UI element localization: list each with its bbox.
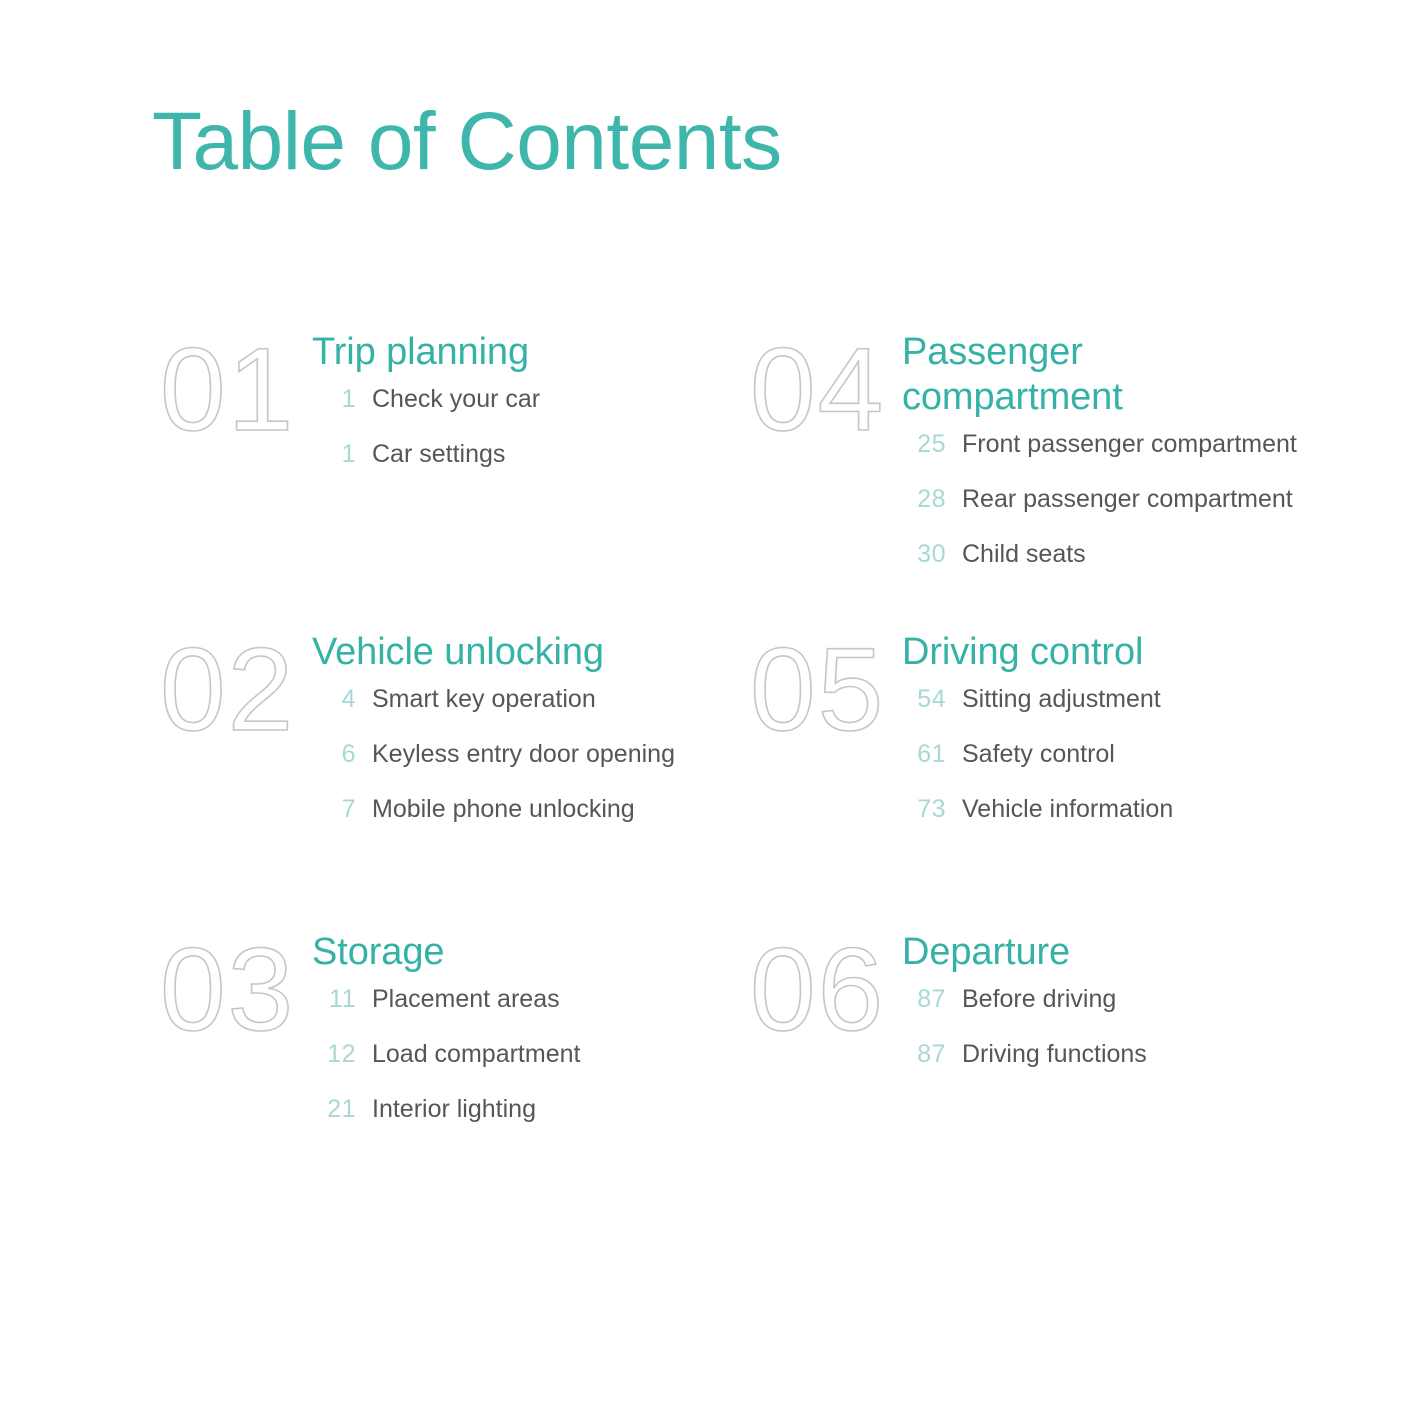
section-number-outline: 03 — [160, 930, 310, 1050]
section-entries: 25 Front passenger compartment 28 Rear p… — [902, 430, 1310, 595]
section-entries: 1 Check your car 1 Car settings — [312, 385, 720, 495]
section-body: Departure 87 Before driving 87 Driving f… — [902, 930, 1310, 1095]
entry-page-number: 30 — [902, 540, 946, 569]
entry-page-number: 87 — [902, 1040, 946, 1069]
section-number-outline: 06 — [750, 930, 900, 1050]
entry-page-number: 73 — [902, 795, 946, 824]
entry-page-number: 6 — [312, 740, 356, 769]
toc-entry[interactable]: 28 Rear passenger compartment — [902, 485, 1310, 540]
section-entries: 4 Smart key operation 6 Keyless entry do… — [312, 685, 720, 850]
section-number-text: 05 — [750, 624, 885, 756]
entry-page-number: 4 — [312, 685, 356, 714]
toc-entry[interactable]: 87 Driving functions — [902, 1040, 1310, 1095]
section-number-outline: 04 — [750, 330, 900, 450]
section-entries: 54 Sitting adjustment 61 Safety control … — [902, 685, 1310, 850]
section-body: Vehicle unlocking 4 Smart key operation … — [312, 630, 720, 850]
section-heading[interactable]: Storage — [312, 930, 720, 975]
section-number-text: 01 — [160, 324, 295, 456]
entry-label: Check your car — [372, 385, 540, 414]
entry-label: Vehicle information — [962, 795, 1173, 824]
section-heading[interactable]: Passenger compartment — [902, 330, 1192, 420]
section-heading[interactable]: Vehicle unlocking — [312, 630, 720, 675]
entry-page-number: 7 — [312, 795, 356, 824]
section-heading[interactable]: Departure — [902, 930, 1310, 975]
entry-label: Car settings — [372, 440, 505, 469]
entry-page-number: 12 — [312, 1040, 356, 1069]
section-number-outline: 02 — [160, 630, 310, 750]
section-number-text: 02 — [160, 624, 295, 756]
entry-label: Sitting adjustment — [962, 685, 1161, 714]
entry-label: Keyless entry door opening — [372, 740, 675, 769]
section-heading[interactable]: Trip planning — [312, 330, 720, 375]
toc-entry[interactable]: 1 Check your car — [312, 385, 720, 440]
toc-entry[interactable]: 87 Before driving — [902, 985, 1310, 1040]
entry-label: Driving functions — [962, 1040, 1147, 1069]
section-number-outline: 05 — [750, 630, 900, 750]
page-title: Table of Contents — [152, 101, 782, 183]
toc-entry[interactable]: 21 Interior lighting — [312, 1095, 720, 1150]
entry-label: Placement areas — [372, 985, 560, 1014]
entry-label: Child seats — [962, 540, 1086, 569]
section-number-outline: 01 — [160, 330, 310, 450]
entry-page-number: 61 — [902, 740, 946, 769]
entry-label: Interior lighting — [372, 1095, 536, 1124]
entry-label: Front passenger compartment — [962, 430, 1297, 459]
entry-page-number: 87 — [902, 985, 946, 1014]
entry-label: Load compartment — [372, 1040, 580, 1069]
toc-entry[interactable]: 25 Front passenger compartment — [902, 430, 1310, 485]
toc-entry[interactable]: 54 Sitting adjustment — [902, 685, 1310, 740]
section-body: Passenger compartment 25 Front passenger… — [902, 330, 1310, 595]
entry-label: Before driving — [962, 985, 1116, 1014]
entry-label: Rear passenger compartment — [962, 485, 1293, 514]
entry-page-number: 25 — [902, 430, 946, 459]
section-number-text: 06 — [750, 924, 885, 1056]
entry-page-number: 28 — [902, 485, 946, 514]
toc-entry[interactable]: 6 Keyless entry door opening — [312, 740, 720, 795]
section-heading[interactable]: Driving control — [902, 630, 1310, 675]
section-entries: 11 Placement areas 12 Load compartment 2… — [312, 985, 720, 1150]
toc-entry[interactable]: 11 Placement areas — [312, 985, 720, 1040]
entry-page-number: 21 — [312, 1095, 356, 1124]
section-number-text: 04 — [750, 324, 885, 456]
entry-page-number: 11 — [312, 985, 356, 1014]
entry-page-number: 54 — [902, 685, 946, 714]
entry-page-number: 1 — [312, 440, 356, 469]
entry-label: Mobile phone unlocking — [372, 795, 635, 824]
section-body: Driving control 54 Sitting adjustment 61… — [902, 630, 1310, 850]
entry-label: Safety control — [962, 740, 1115, 769]
entry-page-number: 1 — [312, 385, 356, 414]
toc-entry[interactable]: 7 Mobile phone unlocking — [312, 795, 720, 850]
section-entries: 87 Before driving 87 Driving functions — [902, 985, 1310, 1095]
toc-entry[interactable]: 12 Load compartment — [312, 1040, 720, 1095]
toc-entry[interactable]: 61 Safety control — [902, 740, 1310, 795]
section-number-text: 03 — [160, 924, 295, 1056]
toc-entry[interactable]: 1 Car settings — [312, 440, 720, 495]
toc-entry[interactable]: 73 Vehicle information — [902, 795, 1310, 850]
toc-entry[interactable]: 4 Smart key operation — [312, 685, 720, 740]
toc-entry[interactable]: 30 Child seats — [902, 540, 1310, 595]
section-body: Trip planning 1 Check your car 1 Car set… — [312, 330, 720, 495]
section-body: Storage 11 Placement areas 12 Load compa… — [312, 930, 720, 1150]
toc-page: Table of Contents 01 Trip planning 1 Che… — [0, 0, 1418, 1418]
entry-label: Smart key operation — [372, 685, 596, 714]
